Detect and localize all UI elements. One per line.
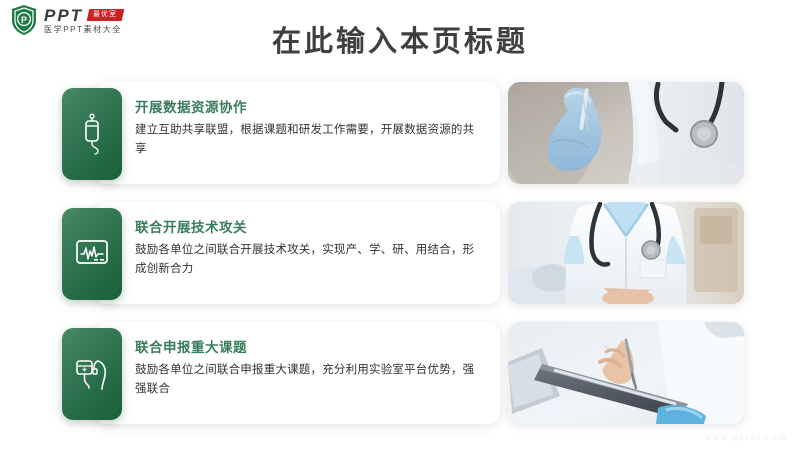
iv-drip-icon xyxy=(76,113,108,155)
card-body: 建立互助共享联盟，根据课题和研发工作需要，开展数据资源的共享 xyxy=(135,121,478,159)
nurse-with-stethoscope-photo xyxy=(508,202,744,304)
card-icon-panel xyxy=(62,88,122,180)
footer-watermark: www.ppter.com xyxy=(704,432,788,442)
card-icon-panel xyxy=(62,208,122,300)
card-title: 联合申报重大课题 xyxy=(135,336,478,356)
card-icon-panel xyxy=(62,328,122,420)
doctor-holding-syringe-photo xyxy=(508,82,744,184)
page-title: 在此输入本页标题 xyxy=(0,18,800,60)
info-card[interactable]: 开展数据资源协作 建立互助共享联盟，根据课题和研发工作需要，开展数据资源的共享 xyxy=(95,82,500,184)
doctor-writing-on-clipboard-photo xyxy=(508,322,744,424)
content-rows: 开展数据资源协作 建立互助共享联盟，根据课题和研发工作需要，开展数据资源的共享 xyxy=(0,82,800,442)
info-card[interactable]: 联合开展技术攻关 鼓励各单位之间联合开展技术攻关，实现产、学、研、用结合，形成创… xyxy=(95,202,500,304)
card-title: 开展数据资源协作 xyxy=(135,96,478,116)
card-body: 鼓励各单位之间联合开展技术攻关，实现产、学、研、用结合，形成创新合力 xyxy=(135,241,478,279)
content-row: 开展数据资源协作 建立互助共享联盟，根据课题和研发工作需要，开展数据资源的共享 xyxy=(0,82,800,184)
blood-pressure-monitor-icon xyxy=(73,355,111,393)
card-title: 联合开展技术攻关 xyxy=(135,216,478,236)
card-body: 鼓励各单位之间联合申报重大课题，充分利用实验室平台优势，强强联合 xyxy=(135,361,478,399)
content-row: 联合开展技术攻关 鼓励各单位之间联合开展技术攻关，实现产、学、研、用结合，形成创… xyxy=(0,202,800,304)
ecg-monitor-icon xyxy=(74,238,110,270)
content-row: 联合申报重大课题 鼓励各单位之间联合申报重大课题，充分利用实验室平台优势，强强联… xyxy=(0,322,800,424)
info-card[interactable]: 联合申报重大课题 鼓励各单位之间联合申报重大课题，充分利用实验室平台优势，强强联… xyxy=(95,322,500,424)
